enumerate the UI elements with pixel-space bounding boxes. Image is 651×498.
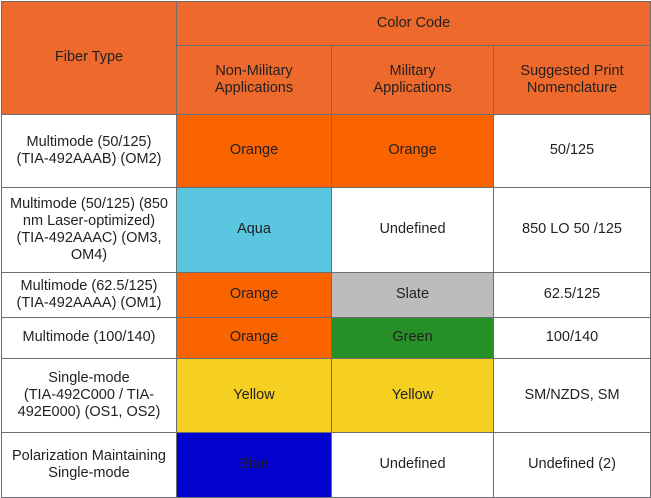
table-row: Multimode (50/125) (850 nm Laser-optimiz…: [2, 188, 651, 273]
fiber-type-line3: (TIA-492AAAC) (OM3,: [16, 230, 161, 246]
header-color-code-group: Color Code: [177, 2, 651, 46]
fiber-type-line2: nm Laser-optimized): [23, 213, 155, 229]
header-row-group: Fiber Type Color Code: [2, 2, 651, 46]
cell-nomenclature: 62.5/125: [494, 273, 651, 318]
cell-non-military-color: Yellow: [177, 359, 332, 433]
cell-military-color: Green: [332, 318, 494, 359]
cell-non-military-color: Blue: [177, 433, 332, 498]
cell-fiber-type: Single-mode (TIA-492C000 / TIA- 492E000)…: [2, 359, 177, 433]
table-row: Multimode (100/140) Orange Green 100/140: [2, 318, 651, 359]
header-military-applications: Military Applications: [332, 46, 494, 115]
cell-non-military-color: Aqua: [177, 188, 332, 273]
table-row: Single-mode (TIA-492C000 / TIA- 492E000)…: [2, 359, 651, 433]
cell-nomenclature: 850 LO 50 /125: [494, 188, 651, 273]
fiber-type-line2: (TIA-492AAAB) (OM2): [16, 151, 161, 167]
header-non-military-line2: Applications: [215, 80, 293, 96]
cell-fiber-type: Multimode (100/140): [2, 318, 177, 359]
cell-non-military-color: Orange: [177, 318, 332, 359]
header-military-line2: Applications: [373, 80, 451, 96]
header-suggested-print-nomenclature: Suggested Print Nomenclature: [494, 46, 651, 115]
table-header: Fiber Type Color Code Non-Military Appli…: [2, 2, 651, 115]
fiber-type-line4: OM4): [71, 247, 107, 263]
header-military-line1: Military: [390, 63, 436, 79]
cell-non-military-color: Orange: [177, 115, 332, 188]
fiber-type-line1: Multimode (62.5/125): [20, 278, 157, 294]
header-nomenclature-line2: Nomenclature: [527, 80, 617, 96]
cell-fiber-type: Multimode (62.5/125) (TIA-492AAAA) (OM1): [2, 273, 177, 318]
cell-nomenclature: Undefined (2): [494, 433, 651, 498]
cell-nomenclature: 50/125: [494, 115, 651, 188]
cell-military-color: Orange: [332, 115, 494, 188]
cell-fiber-type: Multimode (50/125) (TIA-492AAAB) (OM2): [2, 115, 177, 188]
header-non-military-line1: Non-Military: [215, 63, 292, 79]
table-row: Multimode (62.5/125) (TIA-492AAAA) (OM1)…: [2, 273, 651, 318]
table-row: Multimode (50/125) (TIA-492AAAB) (OM2) O…: [2, 115, 651, 188]
table-row: Polarization Maintaining Single-mode Blu…: [2, 433, 651, 498]
header-non-military-applications: Non-Military Applications: [177, 46, 332, 115]
cell-fiber-type: Polarization Maintaining Single-mode: [2, 433, 177, 498]
fiber-type-line2: (TIA-492C000 / TIA-: [24, 387, 154, 403]
fiber-type-line1: Polarization Maintaining: [12, 448, 166, 464]
fiber-type-line1: Multimode (50/125): [27, 134, 152, 150]
fiber-type-line1: Single-mode: [48, 370, 129, 386]
fiber-type-line2: Single-mode: [48, 465, 129, 481]
header-nomenclature-line1: Suggested Print: [520, 63, 623, 79]
cell-military-color: Slate: [332, 273, 494, 318]
fiber-type-line1: Multimode (100/140): [23, 329, 156, 345]
cell-military-color: Yellow: [332, 359, 494, 433]
fiber-type-line1: Multimode (50/125) (850: [10, 196, 168, 212]
cell-nomenclature: 100/140: [494, 318, 651, 359]
header-fiber-type: Fiber Type: [2, 2, 177, 115]
cell-nomenclature: SM/NZDS, SM: [494, 359, 651, 433]
cell-military-color: Undefined: [332, 188, 494, 273]
fiber-type-line2: (TIA-492AAAA) (OM1): [16, 295, 161, 311]
fiber-color-code-table-container: Fiber Type Color Code Non-Military Appli…: [0, 0, 651, 484]
table-body: Multimode (50/125) (TIA-492AAAB) (OM2) O…: [2, 115, 651, 498]
cell-non-military-color: Orange: [177, 273, 332, 318]
cell-military-color: Undefined: [332, 433, 494, 498]
fiber-color-code-table: Fiber Type Color Code Non-Military Appli…: [1, 1, 651, 498]
fiber-type-line3: 492E000) (OS1, OS2): [18, 404, 161, 420]
cell-fiber-type: Multimode (50/125) (850 nm Laser-optimiz…: [2, 188, 177, 273]
